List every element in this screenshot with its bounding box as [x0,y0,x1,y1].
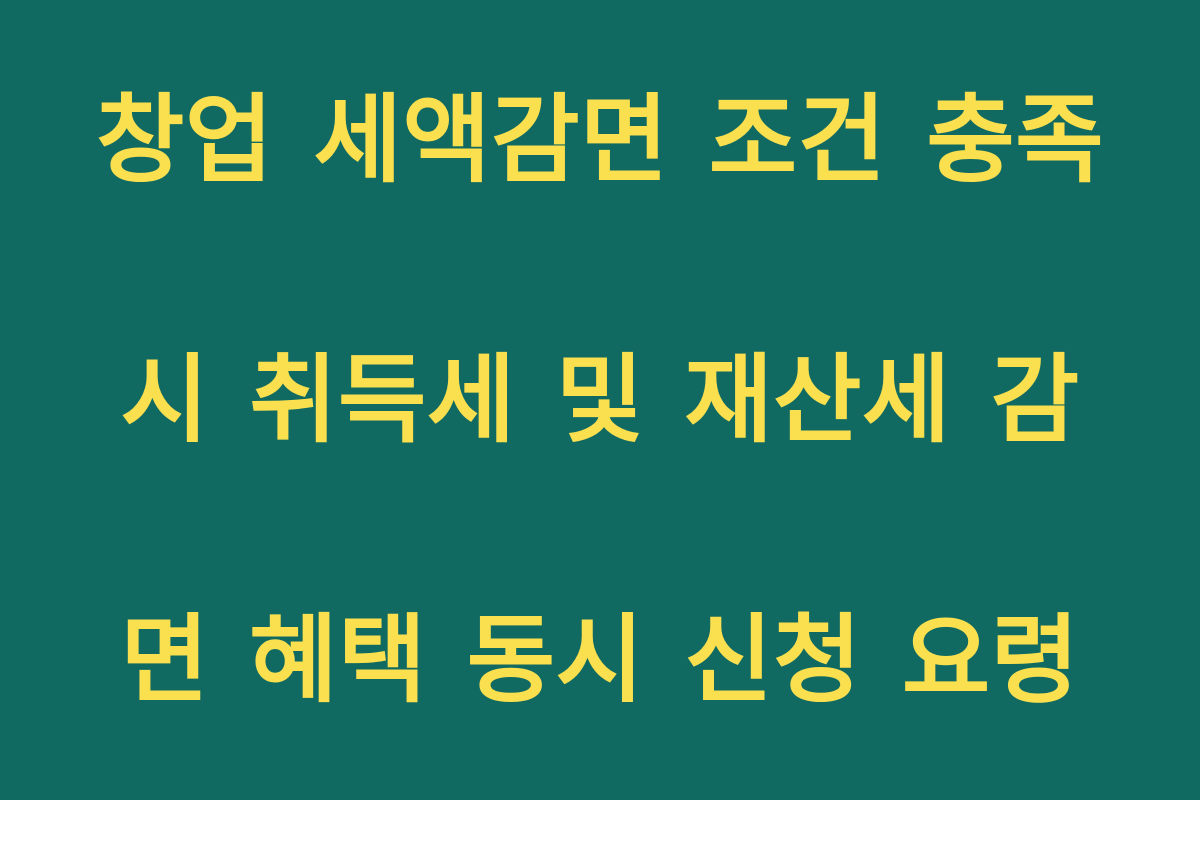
headline-line-1: 창업 세액감면 조건 충족 [50,75,1150,205]
page-title: 창업 세액감면 조건 충족 시 취득세 및 재산세 감 면 혜택 동시 신청 요… [50,0,1150,855]
headline-line-2: 시 취득세 및 재산세 감 [50,335,1150,465]
poster-canvas: 창업 세액감면 조건 충족 시 취득세 및 재산세 감 면 혜택 동시 신청 요… [0,0,1200,800]
headline-line-3: 면 혜택 동시 신청 요령 [50,595,1150,725]
